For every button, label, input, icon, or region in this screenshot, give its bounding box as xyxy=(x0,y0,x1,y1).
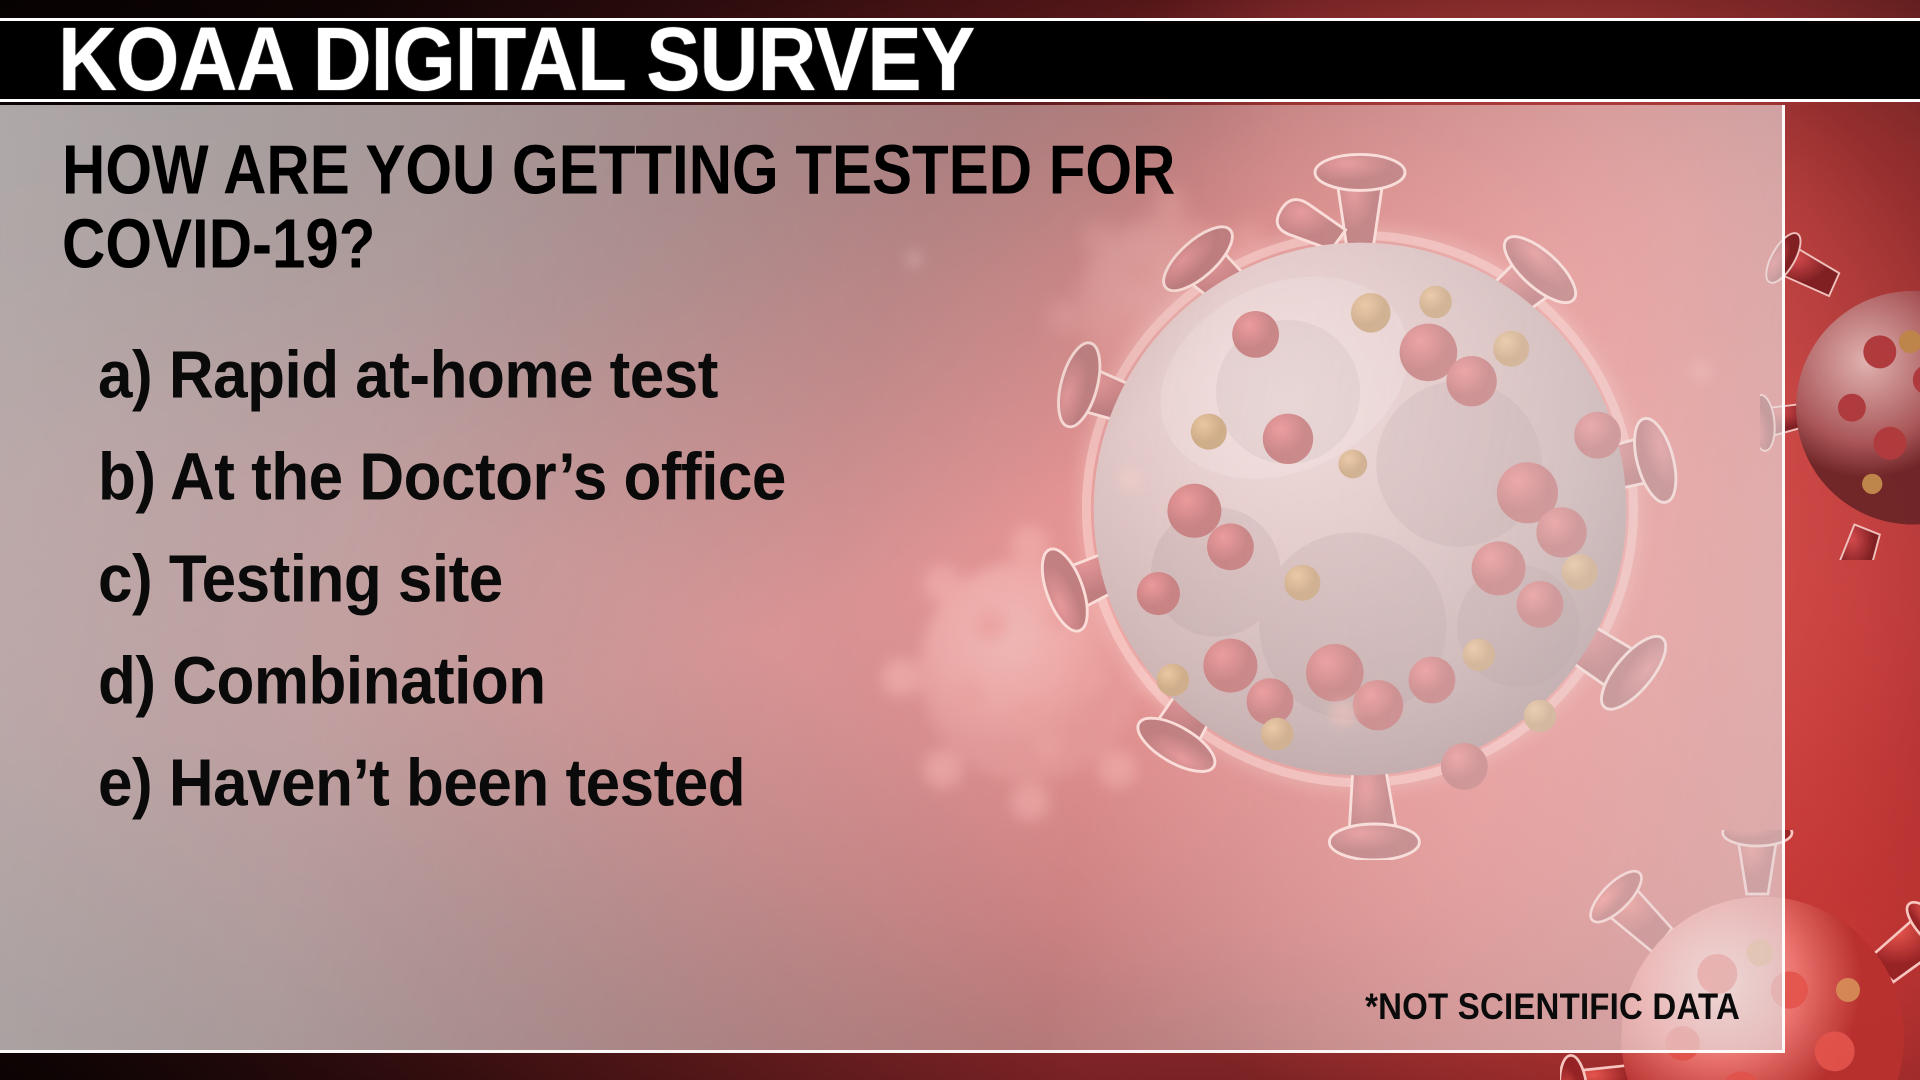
answer-option-d[interactable]: d) Combination xyxy=(98,627,1198,737)
survey-question: HOW ARE YOU GETTING TESTED FOR COVID-19? xyxy=(62,133,1222,281)
question-line-1: HOW ARE YOU GETTING TESTED FOR xyxy=(62,133,1222,207)
answer-option-e[interactable]: e) Haven’t been tested xyxy=(98,729,1198,839)
answer-option-c[interactable]: c) Testing site xyxy=(98,525,1198,635)
answer-option-b[interactable]: b) At the Doctor’s office xyxy=(98,423,1198,533)
answer-option-a[interactable]: a) Rapid at-home test xyxy=(98,321,1198,431)
disclaimer-footnote: *NOT SCIENTIFIC DATA xyxy=(1365,985,1740,1028)
page-title: KOAA DIGITAL SURVEY xyxy=(58,15,974,105)
answer-options-list: a) Rapid at-home test b) At the Doctor’s… xyxy=(98,325,1198,835)
survey-panel: HOW ARE YOU GETTING TESTED FOR COVID-19?… xyxy=(0,105,1785,1053)
survey-graphic: HOW ARE YOU GETTING TESTED FOR COVID-19?… xyxy=(0,0,1920,1080)
title-banner: KOAA DIGITAL SURVEY xyxy=(0,18,1920,102)
question-line-2: COVID-19? xyxy=(62,207,1222,281)
